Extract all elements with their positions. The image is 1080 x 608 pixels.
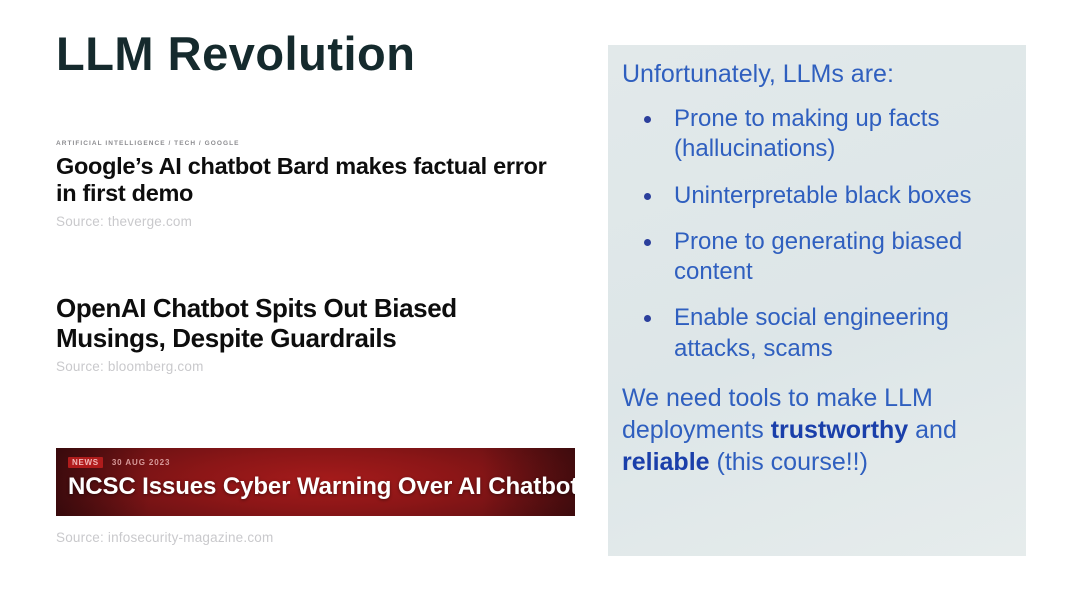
- panel-closing-statement: We need tools to make LLM deployments tr…: [622, 382, 1010, 478]
- limitations-list: Prone to making up facts (hallucinations…: [620, 104, 1010, 364]
- left-column: LLM Revolution ARTIFICIAL INTELLIGENCE /…: [56, 28, 576, 578]
- list-item: Uninterpretable black boxes: [620, 181, 1010, 211]
- news-kicker: ARTIFICIAL INTELLIGENCE / TECH / GOOGLE: [56, 140, 576, 147]
- panel-lead-text: Unfortunately, LLMs are:: [622, 59, 1010, 90]
- news-date: 30 AUG 2023: [112, 459, 171, 467]
- closing-bold-trustworthy: trustworthy: [771, 416, 909, 444]
- bullet-dot-icon: [644, 239, 651, 246]
- closing-bold-reliable: reliable: [622, 448, 710, 476]
- news-headline: NCSC Issues Cyber Warning Over AI Chatbo…: [68, 474, 575, 500]
- news-clipping-bloomberg: OpenAI Chatbot Spits Out Biased Musings,…: [56, 293, 576, 374]
- bullet-dot-icon: [644, 116, 651, 123]
- llm-limitations-panel: Unfortunately, LLMs are: Prone to making…: [608, 45, 1026, 556]
- page-title: LLM Revolution: [56, 28, 576, 80]
- closing-text-part-2: and: [908, 416, 957, 444]
- bullet-dot-icon: [644, 315, 651, 322]
- list-item-label: Prone to generating biased content: [674, 228, 962, 285]
- news-banner-image: NEWS 30 AUG 2023 NCSC Issues Cyber Warni…: [56, 448, 575, 516]
- news-headline: OpenAI Chatbot Spits Out Biased Musings,…: [56, 293, 556, 353]
- news-source: Source: theverge.com: [56, 214, 576, 229]
- list-item: Enable social engineering attacks, scams: [620, 303, 1010, 363]
- news-headline: Google’s AI chatbot Bard makes factual e…: [56, 153, 556, 208]
- news-source: Source: bloomberg.com: [56, 359, 576, 374]
- bullet-dot-icon: [644, 193, 651, 200]
- news-clipping-ncsc: NEWS 30 AUG 2023 NCSC Issues Cyber Warni…: [56, 448, 576, 545]
- slide-canvas: LLM Revolution ARTIFICIAL INTELLIGENCE /…: [0, 0, 1080, 608]
- news-tag-badge: NEWS: [68, 457, 103, 468]
- news-clipping-verge: ARTIFICIAL INTELLIGENCE / TECH / GOOGLE …: [56, 140, 576, 229]
- list-item: Prone to generating biased content: [620, 227, 1010, 287]
- list-item-label: Enable social engineering attacks, scams: [674, 304, 949, 361]
- list-item-label: Uninterpretable black boxes: [674, 182, 972, 209]
- banner-meta: NEWS 30 AUG 2023: [68, 457, 170, 468]
- news-source: Source: infosecurity-magazine.com: [56, 530, 576, 545]
- list-item: Prone to making up facts (hallucinations…: [620, 104, 1010, 164]
- list-item-label: Prone to making up facts (hallucinations…: [674, 105, 939, 162]
- closing-text-part-3: (this course!!): [710, 448, 868, 476]
